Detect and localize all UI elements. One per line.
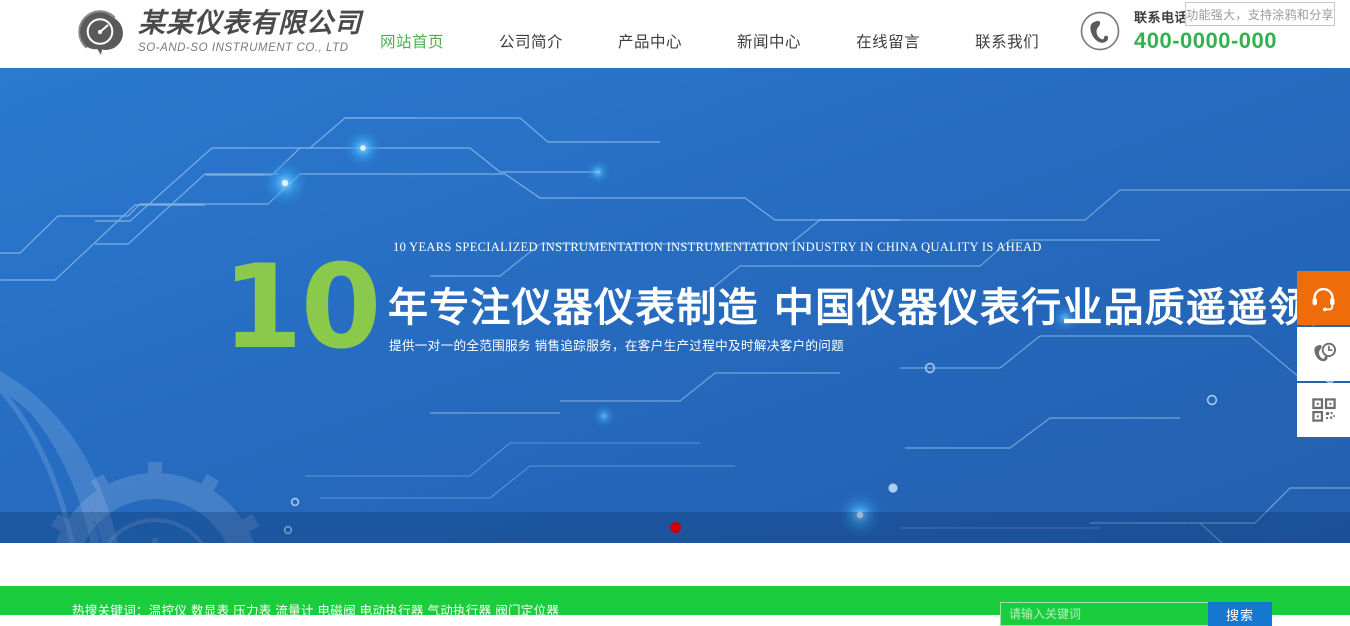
call-history-button[interactable]	[1297, 327, 1350, 381]
floating-side-toolbar	[1297, 271, 1350, 439]
hot-keywords-text: 热搜关键词：温控仪 数显表 压力表 流量计 电磁阀 电动执行器 气动执行器 阀门…	[72, 605, 559, 618]
main-navigation: 网站首页 公司简介 产品中心 新闻中心 在线留言 联系我们	[380, 28, 1039, 54]
hero-title: 年专注仪器仪表制造 中国仪器仪表行业品质遥遥领先	[388, 275, 1350, 333]
headset-icon	[1310, 285, 1337, 312]
nav-item-home[interactable]: 网站首页	[380, 28, 444, 54]
carousel-dot-1[interactable]	[670, 522, 681, 533]
customer-service-button[interactable]	[1297, 271, 1350, 325]
qr-code-button[interactable]	[1297, 383, 1350, 437]
site-header: 某某仪表有限公司 SO-AND-SO INSTRUMENT CO., LTD 网…	[0, 0, 1350, 68]
logo-name-en: SO-AND-SO INSTRUMENT CO., LTD	[138, 43, 362, 55]
hero-eyebrow: 10 YEARS SPECIALIZED INSTRUMENTATION INS…	[393, 240, 1042, 255]
carousel-indicators	[0, 512, 1350, 543]
hero-big-number: 10	[222, 250, 379, 366]
nav-item-contact[interactable]: 联系我们	[975, 28, 1039, 54]
search-input[interactable]	[1000, 602, 1208, 626]
gauge-meter-icon	[72, 4, 128, 60]
nav-item-products[interactable]: 产品中心	[618, 28, 682, 54]
nav-item-about[interactable]: 公司简介	[499, 28, 563, 54]
contact-number: 400-0000-000	[1134, 30, 1277, 52]
content-gap	[0, 543, 1350, 586]
site-search: 搜索	[1000, 602, 1272, 626]
qrcode-icon	[1311, 397, 1337, 423]
nav-item-news[interactable]: 新闻中心	[737, 28, 801, 54]
search-button[interactable]: 搜索	[1208, 602, 1272, 626]
hero-banner: 10 YEARS SPECIALIZED INSTRUMENTATION INS…	[0, 68, 1350, 543]
hero-content: 10 YEARS SPECIALIZED INSTRUMENTATION INS…	[0, 68, 1350, 543]
phone-clock-icon	[1310, 341, 1337, 368]
phone-circle-icon	[1075, 6, 1125, 56]
site-logo[interactable]: 某某仪表有限公司 SO-AND-SO INSTRUMENT CO., LTD	[72, 4, 362, 60]
overlay-tooltip: 功能强大，支持涂鸦和分享	[1185, 2, 1335, 26]
hero-subtitle: 提供一对一的全范围服务 销售追踪服务，在客户生产过程中及时解决客户的问题	[389, 335, 844, 354]
logo-name-cn: 某某仪表有限公司	[138, 10, 362, 37]
nav-item-message[interactable]: 在线留言	[856, 28, 920, 54]
